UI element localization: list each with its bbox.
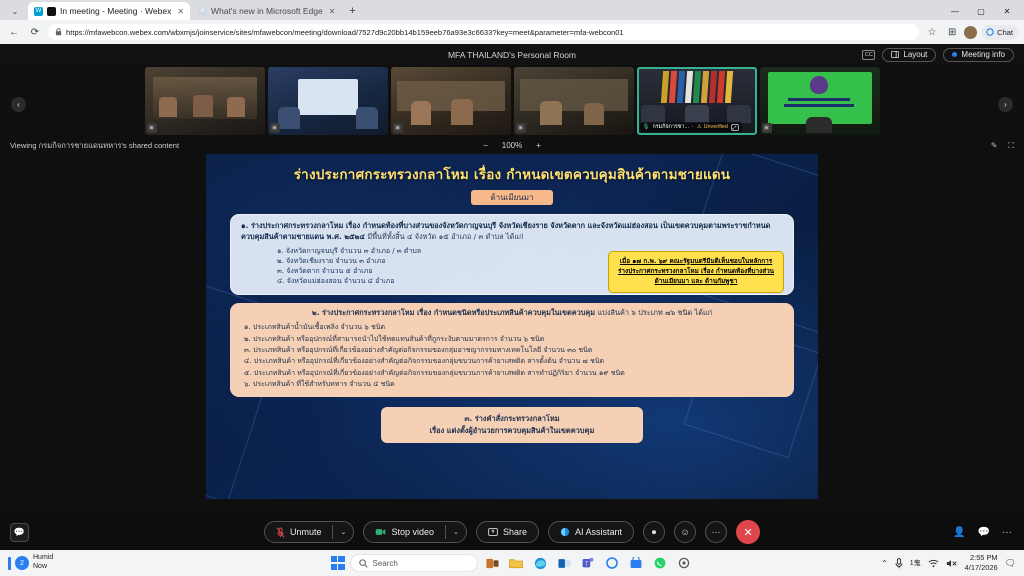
reload-icon[interactable]: ⟳ <box>27 24 43 40</box>
address-bar[interactable]: https://mfawebcon.webex.com/wbxmjs/joins… <box>48 24 919 40</box>
section2-heading: ๒. ร่างประกาศกระทรวงกลาโหม เรื่อง กำหนดช… <box>240 308 784 319</box>
unmute-button[interactable]: Unmute <box>265 522 333 542</box>
copilot-label: Chat <box>997 28 1013 37</box>
svg-text:T: T <box>585 561 589 567</box>
settings-gear-icon[interactable] <box>675 554 694 573</box>
address-bar-url: https://mfawebcon.webex.com/wbxmjs/joins… <box>66 28 624 37</box>
reactions-button[interactable]: ☺ <box>674 521 696 543</box>
meeting-info-button[interactable]: Meeting info <box>943 48 1014 62</box>
section1-heading-thin: มีพื้นที่ทั้งสิ้น ๔ จังหวัด ๑๕ อำเภอ / ๓… <box>367 232 523 241</box>
control-left-group: 💬 <box>10 523 29 542</box>
stop-video-label: Stop video <box>391 527 434 537</box>
closed-caption-icon[interactable]: CC <box>862 50 875 60</box>
presentation-slide: ร่างประกาศกระทรวงกลาโหม เรื่อง กำหนดเขตค… <box>206 154 818 499</box>
mute-control-group: Unmute ⌄ <box>264 521 355 543</box>
favorite-star-icon[interactable]: ☆ <box>924 24 940 40</box>
panel-more-icon[interactable]: ··· <box>1002 527 1012 538</box>
browser-toolbar-right: ☆ ⊞ Chat <box>924 24 1018 40</box>
windows-taskbar: Humid Now Search <box>0 550 1024 576</box>
browser-navbar: ← ⟳ https://mfawebcon.webex.com/wbxmjs/j… <box>0 20 1024 44</box>
participant-name: กรมกิจการชา... <box>652 123 689 131</box>
section2-heading-thin: แบ่งสินค้า ๖ ประเภท ๗๖ ชนิด ได้แก่ <box>598 308 712 317</box>
share-label: Share <box>503 527 527 537</box>
ai-assistant-label: AI Assistant <box>575 527 622 537</box>
slide-section-1: ๑. ร่างประกาศกระทรวงกลาโหม เรื่อง กำหนดท… <box>230 214 794 295</box>
shared-content-bar: Viewing กรมกิจการชายแดนทหาร's shared con… <box>0 137 1024 154</box>
browser-tab-webex[interactable]: W In meeting - Meeting · Webex ✕ <box>28 2 190 20</box>
maximize-button[interactable]: ▢ <box>968 2 994 20</box>
video-options-chevron-down-icon[interactable]: ⌄ <box>446 528 466 536</box>
edge-browser-icon[interactable] <box>531 554 550 573</box>
file-explorer-icon[interactable] <box>507 554 526 573</box>
unverified-badge: ⚠ Unverified <box>697 124 728 130</box>
list-item: ๓. ประเภทสินค้า หรืออุปกรณ์ที่เกี่ยวข้อง… <box>244 345 784 356</box>
thumbnail-participant-5[interactable]: 🎙 กรมกิจการชา... · ⚠ Unverified ⤢ <box>637 67 757 135</box>
video-camera-icon <box>375 528 386 536</box>
list-item: ๔. ประเภทสินค้า หรืออุปกรณ์ที่เกี่ยวข้อง… <box>244 356 784 367</box>
control-right-group: 👤 💬 ··· <box>953 527 1012 538</box>
record-button[interactable]: ⏺ <box>643 521 665 543</box>
end-meeting-button[interactable]: ✕ <box>736 520 760 544</box>
collections-icon[interactable]: ⊞ <box>944 24 960 40</box>
copilot-chat-button[interactable]: Chat <box>981 25 1018 40</box>
thumbnail-participant-1[interactable]: ▣ <box>145 67 265 135</box>
thumbnail-participant-4[interactable]: ▣ <box>514 67 634 135</box>
browser-tab-edge[interactable]: e What's new in Microsoft Edge ✕ <box>192 2 341 20</box>
zoom-level: 100% <box>502 141 522 150</box>
stop-video-button[interactable]: Stop video <box>364 522 445 542</box>
close-icon[interactable]: ✕ <box>329 7 336 16</box>
chat-icon[interactable]: 💬 <box>978 527 990 538</box>
filmstrip-next-button[interactable]: › <box>998 97 1013 112</box>
copilot-taskbar-icon[interactable] <box>603 554 622 573</box>
ai-sparkle-icon <box>560 527 570 537</box>
list-item: ๒. ประเภทสินค้า หรืออุปกรณ์ที่สามารถนำไป… <box>244 334 784 345</box>
edge-icon: e <box>198 7 207 16</box>
start-button-icon[interactable] <box>331 556 345 570</box>
profile-avatar[interactable] <box>964 26 977 39</box>
thumbnail-status-icon: ▣ <box>393 123 403 133</box>
mute-options-chevron-down-icon[interactable]: ⌄ <box>333 528 353 536</box>
thumbnail-participant-2[interactable]: ▣ <box>268 67 388 135</box>
zoom-in-button[interactable]: + <box>536 141 541 150</box>
window-controls: — ▢ ✕ <box>942 2 1020 20</box>
list-item: ๖. ประเภทสินค้า ที่ใช้สำหรับทหาร จำนวน ๔… <box>244 379 784 390</box>
section3-line2: เรื่อง แต่งตั้งผู้อำนวยการควบคุมสินค้าใน… <box>389 425 635 437</box>
section1-heading: ๑. ร่างประกาศกระทรวงกลาโหม เรื่อง กำหนดท… <box>241 221 783 243</box>
content-actions: ✎ ⛶ <box>991 141 1014 151</box>
taskbar-center-group: Search T <box>0 554 1024 573</box>
webex-icon: W <box>34 7 43 16</box>
zoom-controls: − 100% + <box>0 141 1024 150</box>
search-icon <box>359 559 368 568</box>
thumbnail-participant-3[interactable]: ▣ <box>391 67 511 135</box>
slide-callout: เมื่อ ๑๗ ก.พ. ๖๙ คณะรัฐมนตรีมีมติเห็นชอบ… <box>608 251 784 293</box>
new-tab-button[interactable]: + <box>343 2 361 20</box>
more-options-button[interactable]: ··· <box>705 521 727 543</box>
search-placeholder: Search <box>373 559 398 568</box>
microphone-icon: 🎙 <box>643 124 650 130</box>
fullscreen-icon[interactable]: ⛶ <box>1008 141 1014 151</box>
tab-strip: ⌄ W In meeting - Meeting · Webex ✕ e Wha… <box>0 0 1024 20</box>
thumbnail-participant-6[interactable]: ▣ <box>760 67 880 135</box>
meeting-info-label: Meeting info <box>961 50 1005 59</box>
layout-grid-icon <box>891 51 899 58</box>
annotate-icon[interactable]: ✎ <box>991 141 998 151</box>
close-icon[interactable]: ✕ <box>177 7 184 16</box>
thumbnail-name-tag: 🎙 กรมกิจการชา... · ⚠ Unverified ⤢ <box>640 122 742 132</box>
thumbnail-status-icon: ▣ <box>516 123 526 133</box>
minimize-button[interactable]: — <box>942 2 968 20</box>
layout-label: Layout <box>903 50 927 59</box>
record-dot-icon <box>47 7 56 16</box>
filmstrip-prev-button[interactable]: ‹ <box>11 97 26 112</box>
thumbnail-status-icon: ▣ <box>147 123 157 133</box>
slide-section-2: ๒. ร่างประกาศกระทรวงกลาโหม เรื่อง กำหนดช… <box>230 303 794 397</box>
back-icon[interactable]: ← <box>6 24 22 40</box>
participants-icon[interactable]: 👤 <box>953 527 965 538</box>
slide-section-3: ๓. ร่างคำสั่งกระทรวงกลาโหม เรื่อง แต่งตั… <box>381 407 643 443</box>
video-control-group: Stop video ⌄ <box>363 521 467 543</box>
outlook-icon[interactable] <box>555 554 574 573</box>
zoom-out-button[interactable]: − <box>483 141 488 150</box>
section2-heading-bold: ๒. ร่างประกาศกระทรวงกลาโหม เรื่อง กำหนดช… <box>312 308 595 317</box>
list-item: ๑. ประเภทสินค้าน้ำมันเชื้อเพลิง จำนวน ๖ … <box>244 322 784 333</box>
teams-icon[interactable]: T <box>579 554 598 573</box>
window-close-button[interactable]: ✕ <box>994 2 1020 20</box>
section2-list: ๑. ประเภทสินค้าน้ำมันเชื้อเพลิง จำนวน ๖ … <box>244 322 784 390</box>
tab-title: What's new in Microsoft Edge <box>211 6 323 16</box>
header-actions: CC Layout Meeting info <box>862 48 1014 62</box>
slide-title: ร่างประกาศกระทรวงกลาโหม เรื่อง กำหนดเขตค… <box>206 154 818 185</box>
pin-icon[interactable]: ⤢ <box>731 124 739 131</box>
taskview-icon[interactable] <box>483 554 502 573</box>
store-icon[interactable] <box>627 554 646 573</box>
list-item: ๕. ประเภทสินค้า หรืออุปกรณ์ที่เกี่ยวข้อง… <box>244 368 784 379</box>
share-screen-icon <box>488 528 498 536</box>
tab-title: In meeting - Meeting · Webex <box>60 6 171 16</box>
thumbnail-status-icon: ▣ <box>762 123 772 133</box>
ai-assistant-button[interactable]: AI Assistant <box>548 521 634 543</box>
unmute-label: Unmute <box>290 527 322 537</box>
thumbnail-status-icon: ▣ <box>270 123 280 133</box>
webex-header: MFA THAILAND's Personal Room CC Layout M… <box>0 44 1024 65</box>
slide-subtitle-badge: ด้านเมียนมา <box>471 190 553 205</box>
webex-meeting-app: MFA THAILAND's Personal Room CC Layout M… <box>0 44 1024 550</box>
application-window: ⌄ W In meeting - Meeting · Webex ✕ e Wha… <box>0 0 1024 576</box>
participant-filmstrip: ‹ ▣ ▣ ▣ <box>0 65 1024 137</box>
warning-icon: ⚠ <box>697 124 702 130</box>
chat-panel-icon[interactable]: 💬 <box>10 523 29 542</box>
shared-content-stage: ร่างประกาศกระทรวงกลาโหม เรื่อง กำหนดเขตค… <box>0 154 1024 514</box>
layout-button[interactable]: Layout <box>882 48 936 62</box>
share-button[interactable]: Share <box>476 521 539 543</box>
taskbar-search-box[interactable]: Search <box>350 554 478 572</box>
microphone-muted-icon <box>276 527 285 538</box>
lock-icon <box>55 28 62 36</box>
meeting-control-bar: 💬 Unmute ⌄ Stop video <box>0 514 1024 550</box>
tab-list-chevron-icon[interactable]: ⌄ <box>4 2 26 20</box>
section3-line1: ๓. ร่างคำสั่งกระทรวงกลาโหม <box>389 413 635 425</box>
browser-chrome: ⌄ W In meeting - Meeting · Webex ✕ e Wha… <box>0 0 1024 44</box>
whatsapp-icon[interactable] <box>651 554 670 573</box>
